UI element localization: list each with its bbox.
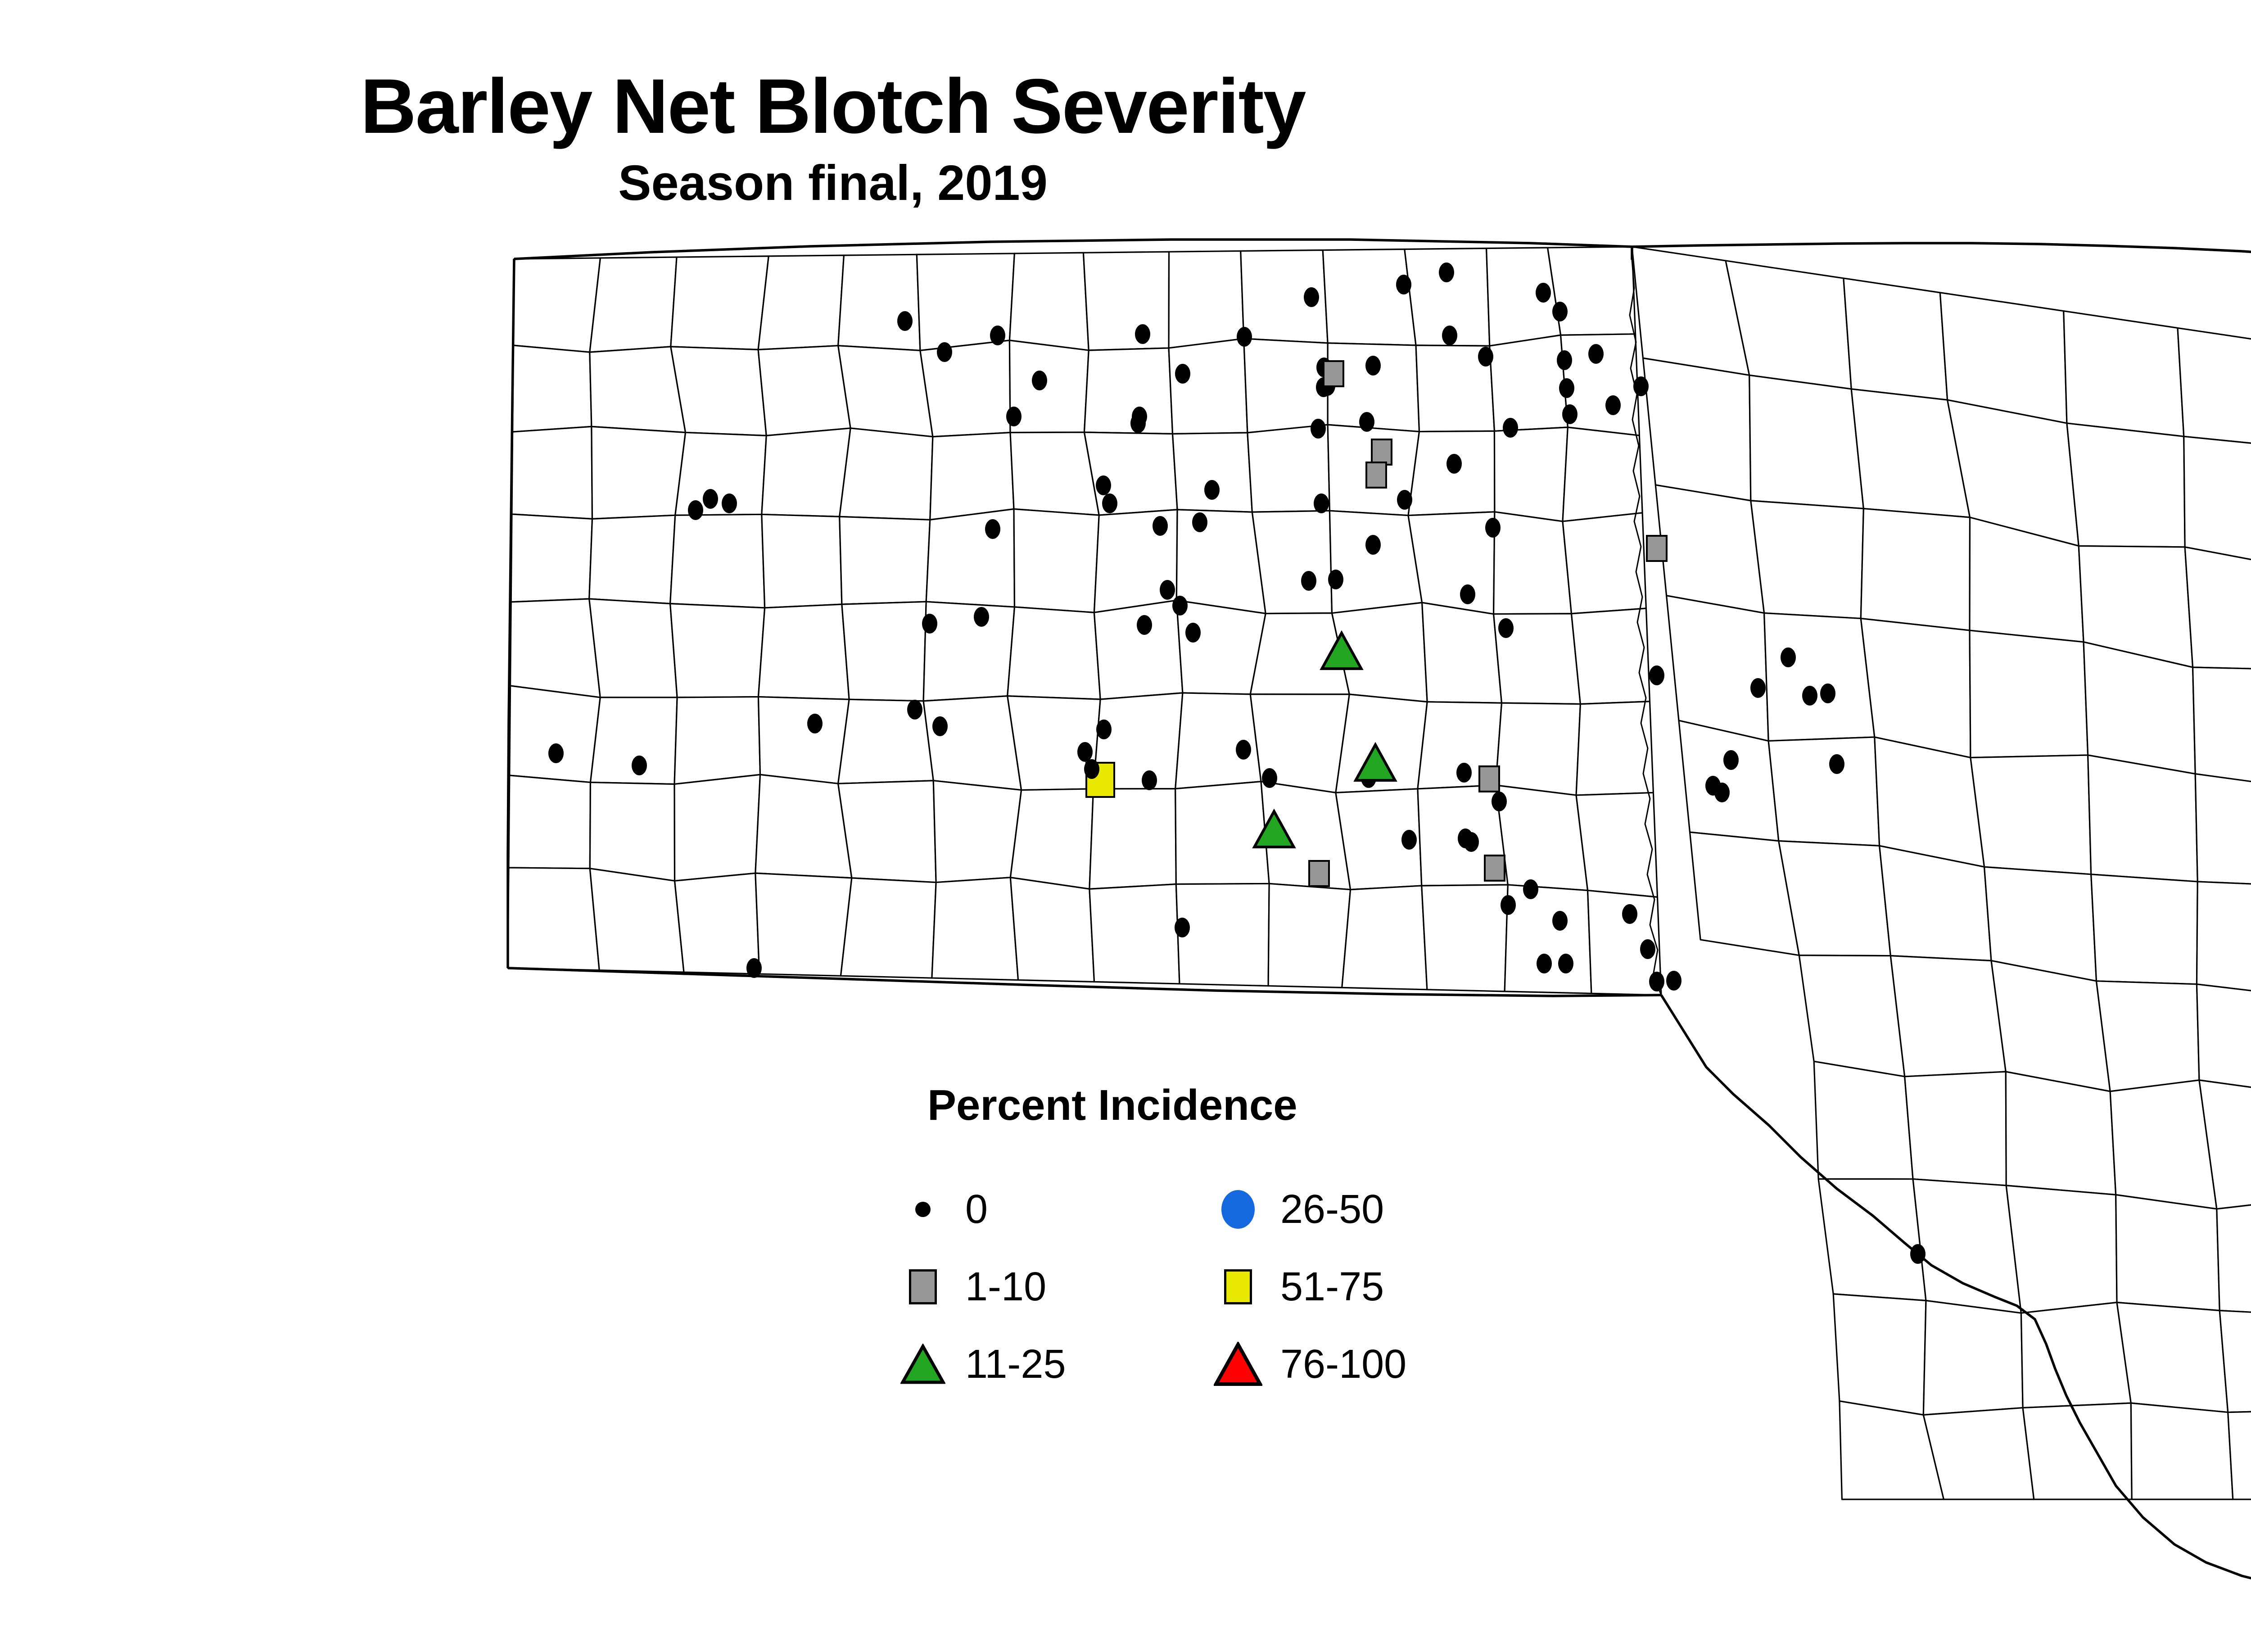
county-polygon bbox=[1751, 501, 1864, 619]
county-polygon bbox=[1244, 339, 1328, 433]
county-polygon bbox=[933, 781, 1021, 883]
marker-square bbox=[1479, 766, 1499, 792]
county-polygon bbox=[2117, 1303, 2228, 1412]
county-polygon bbox=[1408, 512, 1495, 614]
county-polygon bbox=[1971, 755, 2091, 874]
marker-dot bbox=[1640, 939, 1655, 959]
county-polygon bbox=[1175, 693, 1261, 789]
county-polygon bbox=[2131, 1403, 2233, 1499]
county-polygon bbox=[1323, 249, 1416, 345]
county-polygon bbox=[1833, 1294, 1926, 1415]
marker-square bbox=[1324, 361, 1343, 386]
county-polygon bbox=[2096, 981, 2199, 1091]
county-polygon bbox=[1084, 432, 1177, 515]
county-polygon bbox=[1169, 251, 1244, 348]
marker-dot bbox=[1102, 493, 1117, 513]
county-polygon bbox=[1576, 702, 1653, 795]
county-polygon bbox=[1923, 1408, 2034, 1499]
legend: Percent Incidence 0 1-10 bbox=[896, 1081, 1481, 1410]
county-polygon bbox=[1494, 512, 1572, 614]
marker-dot bbox=[1160, 580, 1175, 600]
legend-item-0[interactable]: 0 bbox=[896, 1178, 1211, 1241]
marker-dot bbox=[1536, 283, 1551, 303]
legend-title: Percent Incidence bbox=[927, 1081, 1481, 1130]
marker-dot bbox=[1781, 647, 1796, 667]
marker-dot bbox=[1077, 742, 1093, 762]
county-polygon bbox=[1094, 600, 1183, 699]
marker-dot bbox=[1820, 683, 1835, 703]
marker-square bbox=[1366, 462, 1386, 488]
marker-dot bbox=[1142, 770, 1157, 790]
marker-dot bbox=[1192, 512, 1207, 532]
marker-dot bbox=[1649, 665, 1664, 685]
county-polygon bbox=[2021, 1303, 2131, 1408]
marker-dot bbox=[1175, 918, 1190, 937]
county-polygon bbox=[671, 347, 766, 436]
marker-dot bbox=[932, 716, 948, 736]
marker-square bbox=[1372, 439, 1392, 465]
county-polygon bbox=[1496, 785, 1587, 891]
marker-dot bbox=[1910, 1244, 1926, 1264]
marker-dot bbox=[1446, 454, 1462, 474]
marker-dot bbox=[1478, 347, 1493, 367]
county-polygon bbox=[1576, 792, 1657, 897]
county-polygon bbox=[842, 602, 926, 701]
legend-columns: 0 1-10 11-25 bbox=[896, 1178, 1481, 1410]
county-polygon bbox=[1173, 433, 1252, 512]
marker-dot bbox=[1396, 275, 1411, 294]
county-polygon bbox=[670, 604, 765, 697]
county-polygon bbox=[1667, 596, 1769, 741]
marker-square bbox=[1309, 861, 1329, 886]
marker-dot bbox=[688, 500, 703, 520]
marker-dot bbox=[1135, 324, 1150, 344]
county-polygon bbox=[762, 514, 842, 608]
county-polygon bbox=[1923, 1301, 2023, 1415]
marker-dot bbox=[1084, 759, 1099, 779]
county-polygon bbox=[1009, 340, 1089, 433]
county-polygon bbox=[674, 774, 760, 881]
county-polygon bbox=[1084, 348, 1172, 434]
marker-dot bbox=[807, 714, 823, 733]
county-polygon bbox=[1422, 602, 1502, 703]
county-polygon bbox=[1268, 883, 1350, 987]
county-polygon bbox=[1799, 955, 1904, 1077]
legend-item-51-75[interactable]: 51-75 bbox=[1211, 1255, 1406, 1318]
county-polygon bbox=[590, 347, 686, 433]
marker-dot bbox=[1829, 754, 1844, 774]
county-polygon bbox=[838, 254, 920, 350]
county-polygon bbox=[758, 346, 850, 436]
marker-dot bbox=[1096, 475, 1111, 495]
county-polygon bbox=[841, 878, 936, 978]
minnesota-counties bbox=[1632, 247, 2251, 1499]
marker-dot bbox=[1485, 518, 1501, 538]
blue-circle-icon bbox=[1211, 1190, 1265, 1229]
marker-dot bbox=[1750, 678, 1766, 698]
county-polygon bbox=[1563, 427, 1642, 521]
county-polygon bbox=[675, 873, 759, 974]
county-polygon bbox=[1010, 878, 1094, 982]
county-polygon bbox=[510, 686, 600, 783]
county-polygon bbox=[2217, 1197, 2251, 1316]
green-triangle-icon bbox=[896, 1344, 950, 1385]
county-polygon bbox=[758, 255, 844, 349]
county-polygon bbox=[1768, 737, 1879, 846]
yellow-square-icon bbox=[1211, 1269, 1265, 1304]
marker-dot bbox=[1562, 404, 1578, 424]
marker-dot bbox=[1460, 584, 1475, 604]
county-polygon bbox=[1818, 1179, 1926, 1301]
marker-dot bbox=[1262, 768, 1277, 788]
county-polygon bbox=[2064, 311, 2184, 437]
county-polygon bbox=[1563, 513, 1646, 614]
county-polygon bbox=[590, 257, 677, 352]
county-polygon bbox=[755, 873, 852, 976]
county-polygon bbox=[1009, 253, 1089, 350]
marker-dot bbox=[1236, 740, 1251, 760]
marker-dot bbox=[1559, 378, 1574, 398]
county-polygon bbox=[1764, 613, 1875, 741]
red-triangle-icon bbox=[1211, 1342, 1265, 1387]
county-polygon bbox=[1814, 1061, 1913, 1179]
marker-dot bbox=[1311, 419, 1326, 439]
county-polygon bbox=[2067, 423, 2185, 547]
marker-dot bbox=[722, 493, 737, 513]
marker-dot bbox=[746, 958, 762, 978]
county-polygon bbox=[2184, 436, 2251, 566]
county-polygon bbox=[674, 697, 760, 784]
legend-item-26-50[interactable]: 26-50 bbox=[1211, 1178, 1406, 1241]
county-polygon bbox=[1861, 619, 1971, 758]
marker-dot bbox=[1096, 720, 1112, 739]
marker-dot bbox=[1032, 371, 1047, 390]
legend-item-76-100[interactable]: 76-100 bbox=[1211, 1333, 1406, 1396]
county-polygon bbox=[1010, 789, 1093, 889]
legend-label-51-75: 51-75 bbox=[1280, 1264, 1384, 1310]
county-polygon bbox=[923, 602, 1014, 701]
marker-dot bbox=[1006, 407, 1022, 426]
marker-dot bbox=[990, 326, 1005, 345]
marker-dot bbox=[1130, 413, 1146, 433]
county-polygon bbox=[762, 428, 850, 516]
county-polygon bbox=[513, 258, 600, 352]
county-polygon bbox=[926, 509, 1014, 607]
marker-dot bbox=[985, 519, 1000, 539]
marker-dot bbox=[632, 756, 647, 775]
county-polygon bbox=[920, 340, 1010, 437]
marker-dot bbox=[1314, 493, 1329, 513]
marker-dot bbox=[974, 607, 989, 627]
marker-dot bbox=[1365, 535, 1381, 555]
county-polygon bbox=[758, 697, 849, 784]
county-polygon bbox=[1494, 427, 1568, 521]
county-polygon bbox=[838, 781, 936, 883]
marker-dot bbox=[1401, 830, 1417, 850]
marker-dot bbox=[1714, 783, 1730, 802]
county-polygon bbox=[1010, 432, 1099, 515]
county-polygon bbox=[2197, 882, 2251, 996]
marker-dot bbox=[1397, 490, 1412, 510]
county-polygon bbox=[671, 256, 768, 350]
marker-dot bbox=[1498, 618, 1514, 638]
marker-dot bbox=[1442, 326, 1457, 345]
marker-dot bbox=[1359, 412, 1374, 432]
county-polygon bbox=[512, 426, 592, 519]
county-polygon bbox=[840, 428, 933, 520]
county-polygon bbox=[2185, 547, 2251, 670]
county-polygon bbox=[2178, 328, 2251, 446]
county-polygon bbox=[1913, 1179, 2021, 1313]
county-polygon bbox=[1176, 883, 1269, 986]
county-polygon bbox=[1176, 510, 1266, 614]
legend-label-26-50: 26-50 bbox=[1280, 1186, 1384, 1233]
marker-dot bbox=[1328, 570, 1343, 589]
county-polygon bbox=[1083, 252, 1169, 350]
county-polygon bbox=[511, 599, 601, 697]
county-polygon bbox=[590, 869, 684, 972]
county-polygon bbox=[1496, 703, 1580, 795]
county-polygon bbox=[2110, 1080, 2217, 1209]
county-polygon bbox=[923, 696, 1021, 790]
marker-dot bbox=[937, 342, 952, 362]
county-polygon bbox=[1175, 782, 1269, 884]
county-polygon bbox=[592, 426, 686, 519]
map-page: Barley Net Blotch Severity Season final,… bbox=[0, 0, 2251, 1652]
marker-dot bbox=[703, 489, 718, 509]
legend-label-11-25: 11-25 bbox=[965, 1341, 1066, 1388]
marker-dot bbox=[897, 311, 913, 331]
county-polygon bbox=[670, 514, 765, 608]
county-polygon bbox=[675, 432, 766, 515]
county-polygon bbox=[755, 774, 852, 878]
marker-dot bbox=[1666, 971, 1681, 991]
county-polygon bbox=[1252, 511, 1332, 613]
county-polygon bbox=[2197, 984, 2251, 1095]
marker-dot bbox=[1237, 327, 1252, 347]
county-polygon bbox=[758, 604, 849, 699]
legend-label-1-10: 1-10 bbox=[965, 1264, 1046, 1310]
marker-square bbox=[1485, 855, 1505, 881]
marker-dot bbox=[907, 700, 922, 720]
county-polygon bbox=[1089, 884, 1180, 984]
marker-dot bbox=[1649, 972, 1664, 991]
county-polygon bbox=[1169, 339, 1248, 434]
legend-item-1-10[interactable]: 1-10 bbox=[896, 1255, 1211, 1318]
marker-dot bbox=[1503, 418, 1518, 438]
marker-dot bbox=[1175, 364, 1190, 384]
county-polygon bbox=[1905, 1072, 2007, 1186]
marker-dot bbox=[548, 743, 564, 763]
county-polygon bbox=[932, 878, 1018, 980]
marker-dot bbox=[1523, 879, 1538, 899]
county-polygon bbox=[513, 345, 592, 432]
marker-dot bbox=[1557, 350, 1572, 370]
marker-dot bbox=[1137, 615, 1152, 635]
legend-item-11-25[interactable]: 11-25 bbox=[896, 1333, 1211, 1396]
county-polygon bbox=[1779, 841, 1891, 956]
legend-label-76-100: 76-100 bbox=[1280, 1341, 1406, 1388]
marker-dot bbox=[1185, 623, 1201, 643]
county-polygon bbox=[1505, 885, 1591, 993]
county-polygon bbox=[1008, 607, 1100, 699]
marker-square bbox=[1647, 536, 1667, 561]
black-dot-icon bbox=[896, 1202, 950, 1217]
marker-dot bbox=[1492, 792, 1507, 811]
gray-square-icon bbox=[896, 1269, 950, 1304]
county-polygon bbox=[2195, 774, 2251, 887]
county-polygon bbox=[1329, 511, 1422, 613]
county-polygon bbox=[509, 775, 590, 869]
county-polygon bbox=[2006, 1072, 2115, 1195]
county-polygon bbox=[1342, 886, 1427, 990]
marker-dot bbox=[1365, 356, 1381, 376]
marker-dot bbox=[1501, 895, 1516, 915]
county-polygon bbox=[1643, 358, 1750, 501]
marker-dot bbox=[1439, 263, 1454, 282]
county-polygon bbox=[589, 599, 677, 697]
marker-dot bbox=[1558, 954, 1573, 973]
marker-dot bbox=[1588, 344, 1604, 364]
marker-dot bbox=[1456, 763, 1472, 783]
marker-dot bbox=[1552, 302, 1568, 321]
county-polygon bbox=[1970, 630, 2088, 758]
county-polygon bbox=[511, 514, 592, 602]
marker-dot bbox=[1301, 571, 1316, 591]
county-polygon bbox=[590, 783, 674, 881]
county-polygon bbox=[840, 516, 930, 604]
county-polygon bbox=[2091, 874, 2198, 984]
county-polygon bbox=[1422, 885, 1508, 991]
marker-dot bbox=[1172, 596, 1188, 616]
county-polygon bbox=[838, 346, 933, 437]
county-polygon bbox=[2088, 755, 2198, 882]
marker-dot bbox=[1633, 376, 1649, 396]
county-polygon bbox=[1014, 509, 1099, 613]
county-polygon bbox=[589, 515, 675, 603]
county-polygon bbox=[2116, 1195, 2220, 1310]
county-polygon bbox=[1408, 431, 1495, 515]
county-polygon bbox=[1176, 600, 1266, 694]
marker-dot bbox=[1464, 832, 1479, 852]
marker-dot bbox=[1622, 904, 1637, 924]
legend-label-0: 0 bbox=[965, 1186, 988, 1233]
marker-dot bbox=[1723, 750, 1739, 770]
county-polygon bbox=[1890, 956, 2006, 1077]
county-polygon bbox=[1844, 278, 1948, 400]
marker-dot bbox=[922, 614, 937, 634]
marker-dot bbox=[1605, 395, 1621, 415]
county-polygon bbox=[1089, 789, 1176, 889]
marker-dot bbox=[1204, 480, 1220, 500]
county-polygon bbox=[1548, 247, 1636, 335]
county-polygon bbox=[2193, 667, 2251, 788]
county-polygon bbox=[1655, 485, 1764, 613]
marker-dot bbox=[1153, 516, 1168, 536]
legend-column-left: 0 1-10 11-25 bbox=[896, 1178, 1211, 1410]
county-polygon bbox=[930, 433, 1014, 520]
marker-dot bbox=[1802, 686, 1817, 706]
county-polygon bbox=[508, 868, 599, 970]
county-polygon bbox=[2006, 1186, 2117, 1313]
marker-dot bbox=[1552, 911, 1568, 931]
legend-column-right: 26-50 51-75 76-100 bbox=[1211, 1178, 1406, 1410]
marker-dot bbox=[1304, 287, 1319, 307]
county-polygon bbox=[1749, 375, 1864, 508]
county-polygon bbox=[1490, 335, 1568, 431]
marker-dot bbox=[1537, 954, 1552, 973]
county-polygon bbox=[1861, 509, 1970, 631]
